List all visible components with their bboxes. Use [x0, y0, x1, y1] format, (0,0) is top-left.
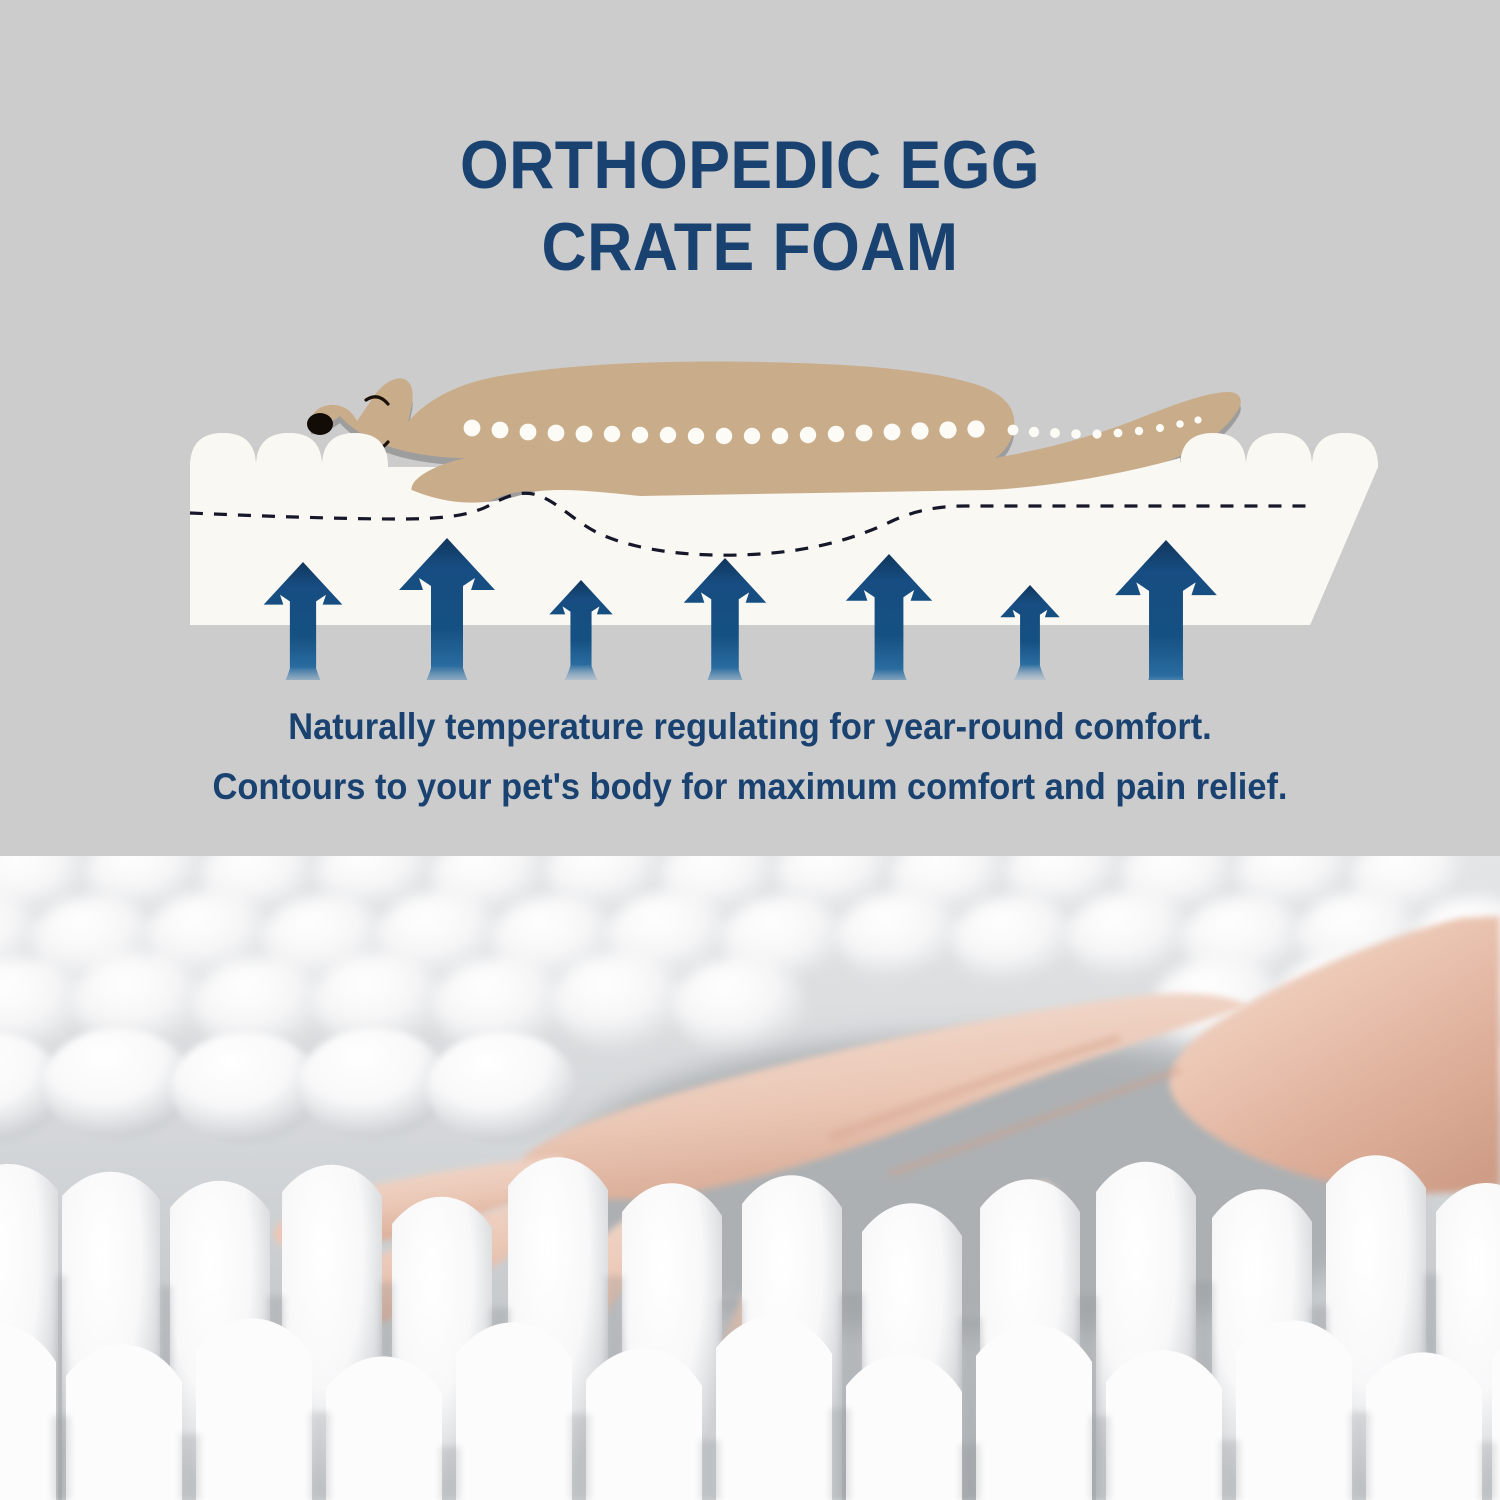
infographic-panel: ORTHOPEDIC EGG CRATE FOAM: [0, 0, 1500, 856]
foam-peaks-foreground: [0, 1155, 1500, 1500]
caption-line-1: Naturally temperature regulating for yea…: [53, 697, 1448, 757]
page-title: ORTHOPEDIC EGG CRATE FOAM: [60, 124, 1440, 288]
foam-cross-section-diagram: [0, 300, 1500, 680]
caption-line-2: Contours to your pet's body for maximum …: [53, 757, 1448, 817]
product-feature-graphic: ORTHOPEDIC EGG CRATE FOAM: [0, 0, 1500, 1500]
feature-caption: Naturally temperature regulating for yea…: [53, 697, 1448, 817]
dog-nose: [307, 413, 333, 435]
foam-photo: [0, 856, 1500, 1500]
